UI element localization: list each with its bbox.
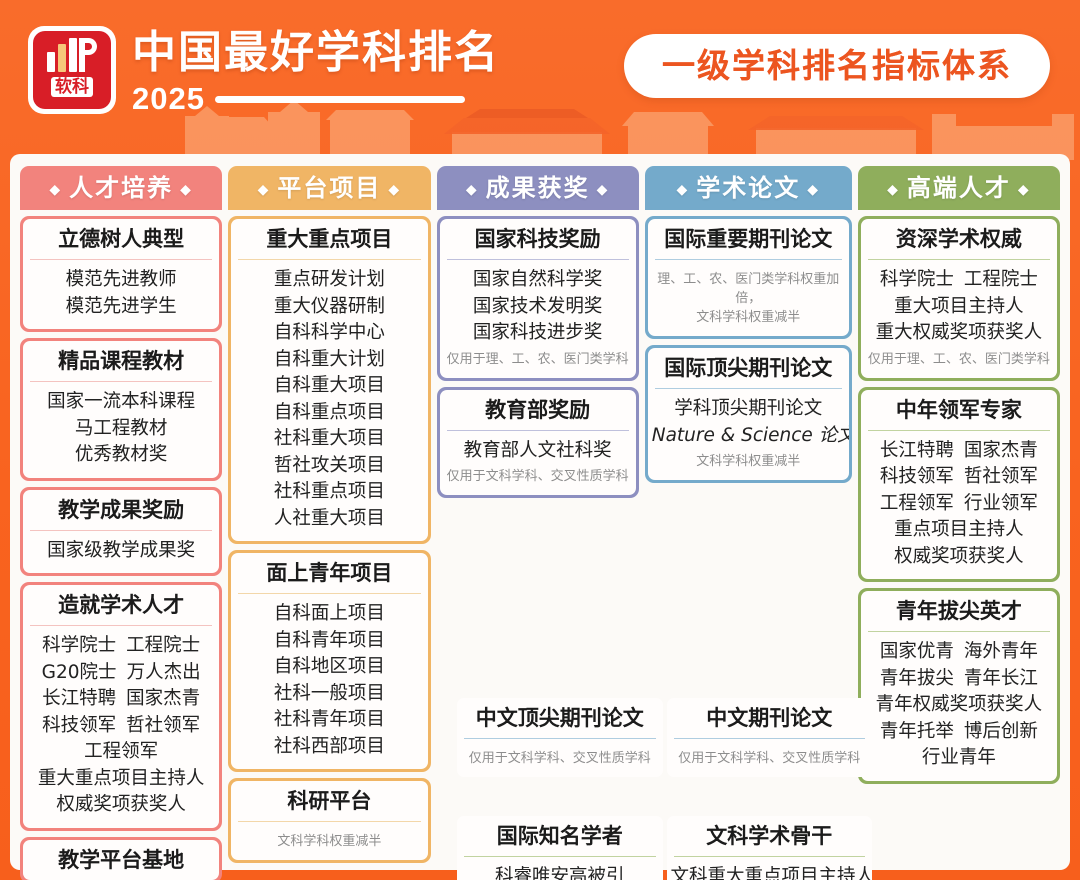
indicator-body: 自科面上项目自科青年项目自科地区项目社科一般项目社科青年项目社科西部项目 [231, 594, 427, 769]
indicator-column-talent: ◆人才培养◆立德树人典型模范先进教师模范先进学生精品课程教材国家一流本科课程马工… [20, 166, 222, 860]
indicator-title: 国际知名学者 [457, 816, 663, 856]
indicator-card[interactable]: 教学平台基地 [23, 840, 219, 880]
indicator-body: 教育部人文社科奖仅用于文科学科、交叉性质学科 [440, 431, 636, 496]
indicator-group[interactable]: 立德树人典型模范先进教师模范先进学生 [20, 216, 222, 332]
indicator-group[interactable]: 教学成果奖励国家级教学成果奖 [20, 487, 222, 577]
indicator-item: 重大权威奖项获奖人 [865, 320, 1053, 347]
indicator-title: 文科学术骨干 [667, 816, 873, 856]
indicator-note: 文科学科权重减半 [652, 452, 845, 471]
indicator-body: 科学院士工程院士G20院士万人杰出长江特聘国家杰青科技领军哲社领军工程领军重大重… [23, 626, 219, 828]
diamond-icon: ◆ [597, 182, 610, 198]
column-header-label: 平台项目 [277, 174, 381, 202]
indicator-note: 仅用于文科学科、交叉性质学科 [671, 749, 869, 768]
indicator-group[interactable]: 精品课程教材国家一流本科课程马工程教材优秀教材奖 [20, 338, 222, 481]
year-label: 2025 [132, 82, 205, 116]
indicator-title: 国际重要期刊论文 [648, 219, 849, 259]
indicator-item: 社科西部项目 [235, 734, 423, 761]
indicator-group[interactable]: 科研平台文科学科权重减半 [228, 778, 430, 863]
indicator-title: 中文期刊论文 [667, 698, 873, 738]
indicator-card[interactable]: 国家科技奖励国家自然科学奖国家技术发明奖国家科技进步奖仅用于理、工、农、医门类学… [440, 219, 636, 378]
logo-inner: 软科 [33, 31, 111, 109]
indicator-item: 青年权威奖项获奖人 [865, 692, 1053, 719]
indicator-item: 长江特聘国家杰青 [865, 438, 1053, 465]
indicator-title: 资深学术权威 [861, 219, 1057, 259]
indicator-item: 国家优青海外青年 [865, 639, 1053, 666]
indicator-item: 权威奖项获奖人 [27, 792, 215, 819]
indicator-card[interactable]: 造就学术人才科学院士工程院士G20院士万人杰出长江特聘国家杰青科技领军哲社领军工… [23, 585, 219, 828]
diamond-icon: ◆ [258, 182, 271, 198]
indicator-title: 国家科技奖励 [440, 219, 636, 259]
column-header-label: 成果获奖 [486, 174, 590, 202]
indicator-group[interactable]: 教育部奖励教育部人文社科奖仅用于文科学科、交叉性质学科 [437, 387, 639, 499]
indicator-group[interactable]: 中年领军专家长江特聘国家杰青科技领军哲社领军工程领军行业领军重点项目主持人权威奖… [858, 387, 1060, 583]
brand-logo: 软科 中国最好学科排名 2025 [28, 26, 500, 116]
indicator-card[interactable]: 资深学术权威科学院士工程院士重大项目主持人重大权威奖项获奖人仅用于理、工、农、医… [861, 219, 1057, 378]
indicator-group[interactable]: 国家科技奖励国家自然科学奖国家技术发明奖国家科技进步奖仅用于理、工、农、医门类学… [437, 216, 639, 381]
indicator-item: 国家自然科学奖 [444, 267, 632, 294]
indicator-item: G20院士万人杰出 [27, 660, 215, 687]
diamond-icon: ◆ [49, 182, 62, 198]
page-title: 中国最好学科排名 [132, 28, 500, 78]
indicator-card-left[interactable]: 国际知名学者科睿唯安高被引爱思唯尔高被引国际重要期刊负责人文科学科权重减半 [457, 816, 663, 880]
indicator-body: 国家优青海外青年青年拔尖青年长江青年权威奖项获奖人青年托举博后创新行业青年 [861, 632, 1057, 781]
indicator-title: 精品课程教材 [23, 341, 219, 381]
column-header-label: 高端人才 [907, 174, 1011, 202]
indicator-body: 模范先进教师模范先进学生 [23, 260, 219, 329]
indicator-note: 理、工、农、医门类学科权重加倍，文科学科权重减半 [652, 270, 845, 327]
indicator-span-scholars[interactable]: 国际知名学者科睿唯安高被引爱思唯尔高被引国际重要期刊负责人文科学科权重减半文科学… [454, 813, 875, 880]
indicator-item: 科技领军哲社领军 [865, 464, 1053, 491]
indicator-item: 自科面上项目 [235, 601, 423, 628]
logo-box: 软科 [28, 26, 116, 114]
poster-root: 软科 中国最好学科排名 2025 一级学科排名指标体系 ◆人才培养◆立德树人典型… [0, 0, 1080, 880]
column-header-elite: ◆高端人才◆ [858, 166, 1060, 210]
indicator-card[interactable]: 国际重要期刊论文理、工、农、医门类学科权重加倍，文科学科权重减半 [648, 219, 849, 336]
indicator-body: 国家级教学成果奖 [23, 531, 219, 574]
indicator-group[interactable]: 青年拔尖英才国家优青海外青年青年拔尖青年长江青年权威奖项获奖人青年托举博后创新行… [858, 588, 1060, 784]
column-header-papers: ◆学术论文◆ [645, 166, 852, 210]
indicator-card[interactable]: 重大重点项目重点研发计划重大仪器研制自科科学中心自科重大计划自科重大项目自科重点… [231, 219, 427, 541]
indicator-item: 自科地区项目 [235, 654, 423, 681]
diamond-icon: ◆ [466, 182, 479, 198]
indicator-item: 科学院士工程院士 [27, 633, 215, 660]
indicator-column-platform: ◆平台项目◆重大重点项目重点研发计划重大仪器研制自科科学中心自科重大计划自科重大… [228, 166, 430, 860]
indicator-title: 教学平台基地 [23, 840, 219, 880]
indicator-column-elite: ◆高端人才◆资深学术权威科学院士工程院士重大项目主持人重大权威奖项获奖人仅用于理… [858, 166, 1060, 860]
indicator-body: 科学院士工程院士重大项目主持人重大权威奖项获奖人仅用于理、工、农、医门类学科 [861, 260, 1057, 378]
indicator-card[interactable]: 精品课程教材国家一流本科课程马工程教材优秀教材奖 [23, 341, 219, 478]
indicator-note: 文科学科权重减半 [235, 832, 423, 851]
indicator-title: 青年拔尖英才 [861, 591, 1057, 631]
indicator-item: 青年托举博后创新 [865, 719, 1053, 746]
indicator-title: 教育部奖励 [440, 390, 636, 430]
indicator-item: 国家一流本科课程 [27, 389, 215, 416]
logo-chinese-name: 软科 [51, 77, 93, 97]
indicator-item: 优秀教材奖 [27, 442, 215, 469]
indicator-body: 国家自然科学奖国家技术发明奖国家科技进步奖仅用于理、工、农、医门类学科 [440, 260, 636, 378]
indicator-item: 行业青年 [865, 745, 1053, 772]
indicator-group[interactable]: 重大重点项目重点研发计划重大仪器研制自科科学中心自科重大计划自科重大项目自科重点… [228, 216, 430, 544]
indicator-note: 仅用于理、工、农、医门类学科 [865, 350, 1053, 369]
indicator-item: 社科青年项目 [235, 707, 423, 734]
indicator-item: 科技领军哲社领军 [27, 713, 215, 740]
indicator-item: 科睿唯安高被引 [461, 864, 659, 880]
year-row: 2025 [132, 82, 500, 116]
indicator-group[interactable]: 面上青年项目自科面上项目自科青年项目自科地区项目社科一般项目社科青年项目社科西部… [228, 550, 430, 772]
indicator-body: 文科学科权重减半 [231, 822, 427, 860]
indicator-group[interactable]: 造就学术人才科学院士工程院士G20院士万人杰出长江特聘国家杰青科技领军哲社领军工… [20, 582, 222, 831]
indicator-item: 哲社攻关项目 [235, 453, 423, 480]
indicator-title: 重大重点项目 [231, 219, 427, 259]
diamond-icon: ◆ [180, 182, 193, 198]
indicator-panel: ◆人才培养◆立德树人典型模范先进教师模范先进学生精品课程教材国家一流本科课程马工… [10, 154, 1070, 870]
indicator-item: 国家技术发明奖 [444, 294, 632, 321]
column-header-talent: ◆人才培养◆ [20, 166, 222, 210]
indicator-note: 仅用于理、工、农、医门类学科 [444, 350, 632, 369]
indicator-title: 造就学术人才 [23, 585, 219, 625]
indicator-body: 科睿唯安高被引爱思唯尔高被引国际重要期刊负责人文科学科权重减半 [457, 857, 663, 880]
indicator-card[interactable]: 立德树人典型模范先进教师模范先进学生 [23, 219, 219, 329]
indicator-item: 权威奖项获奖人 [865, 544, 1053, 571]
indicator-card[interactable]: 科研平台文科学科权重减半 [231, 781, 427, 860]
indicator-item: 社科一般项目 [235, 681, 423, 708]
indicator-card[interactable]: 面上青年项目自科面上项目自科青年项目自科地区项目社科一般项目社科青年项目社科西部… [231, 553, 427, 769]
indicator-item: 教育部人文社科奖 [444, 438, 632, 465]
subtitle-text: 一级学科排名指标体系 [662, 46, 1012, 86]
indicator-card-left[interactable]: 中文顶尖期刊论文仅用于文科学科、交叉性质学科 [457, 698, 663, 777]
indicator-item: 自科重大项目 [235, 373, 423, 400]
indicator-card[interactable]: 教学成果奖励国家级教学成果奖 [23, 490, 219, 574]
indicator-item: 国家级教学成果奖 [27, 538, 215, 565]
indicator-item: 国家科技进步奖 [444, 320, 632, 347]
bar-chart-icon [47, 38, 77, 72]
indicator-item: 工程领军行业领军 [865, 491, 1053, 518]
diamond-icon: ◆ [388, 182, 401, 198]
indicator-title: 国际顶尖期刊论文 [648, 348, 849, 388]
indicator-card[interactable]: 教育部奖励教育部人文社科奖仅用于文科学科、交叉性质学科 [440, 390, 636, 496]
indicator-item: 重点研发计划 [235, 267, 423, 294]
indicator-card[interactable]: 中年领军专家长江特聘国家杰青科技领军哲社领军工程领军行业领军重点项目主持人权威奖… [861, 390, 1057, 580]
indicator-item: 文科重大重点项目主持人 [671, 864, 869, 880]
indicator-item: 青年拔尖青年长江 [865, 666, 1053, 693]
title-block: 中国最好学科排名 2025 [132, 26, 500, 116]
indicator-body: 理、工、农、医门类学科权重加倍，文科学科权重减半 [648, 260, 849, 336]
indicator-note: 仅用于文科学科、交叉性质学科 [444, 467, 632, 486]
indicator-title: 立德树人典型 [23, 219, 219, 259]
subtitle-pill: 一级学科排名指标体系 [624, 34, 1050, 98]
column-header-platform: ◆平台项目◆ [228, 166, 430, 210]
indicator-card[interactable]: 国际顶尖期刊论文学科顶尖期刊论文Nature & Science 论文文科学科权… [648, 348, 849, 480]
indicator-item: 重大仪器研制 [235, 294, 423, 321]
indicator-body: 仅用于文科学科、交叉性质学科 [667, 739, 873, 777]
column-header-label: 人才培养 [69, 174, 173, 202]
poster-header: 软科 中国最好学科排名 2025 一级学科排名指标体系 [0, 0, 1080, 160]
diamond-icon: ◆ [676, 182, 689, 198]
indicator-note: 仅用于文科学科、交叉性质学科 [461, 749, 659, 768]
indicator-card[interactable]: 青年拔尖英才国家优青海外青年青年拔尖青年长江青年权威奖项获奖人青年托举博后创新行… [861, 591, 1057, 781]
indicator-group[interactable]: 资深学术权威科学院士工程院士重大项目主持人重大权威奖项获奖人仅用于理、工、农、医… [858, 216, 1060, 381]
indicator-item: 自科科学中心 [235, 320, 423, 347]
indicator-group[interactable]: 教学平台基地 [20, 837, 222, 880]
indicator-body: 长江特聘国家杰青科技领军哲社领军工程领军行业领军重点项目主持人权威奖项获奖人 [861, 431, 1057, 580]
indicator-title: 科研平台 [231, 781, 427, 821]
indicator-item: 长江特聘国家杰青 [27, 686, 215, 713]
indicator-item: 社科重大项目 [235, 426, 423, 453]
indicator-item: 重点项目主持人 [865, 517, 1053, 544]
indicator-body: 文科重大重点项目主持人文科权威奖项获奖人仅用于文科学科、交叉性质学科 [667, 857, 873, 880]
column-header-awards: ◆成果获奖◆ [437, 166, 639, 210]
indicator-card-right[interactable]: 中文期刊论文仅用于文科学科、交叉性质学科 [667, 698, 873, 777]
column-header-label: 学术论文 [696, 174, 800, 202]
title-rule [215, 96, 465, 103]
indicator-title: 面上青年项目 [231, 553, 427, 593]
indicator-item: 科学院士工程院士 [865, 267, 1053, 294]
indicator-body: 国家一流本科课程马工程教材优秀教材奖 [23, 382, 219, 478]
indicator-group[interactable]: 国际顶尖期刊论文学科顶尖期刊论文Nature & Science 论文文科学科权… [645, 345, 852, 483]
indicator-item: 重大项目主持人 [865, 294, 1053, 321]
indicator-item: 模范先进教师 [27, 267, 215, 294]
indicator-group[interactable]: 国际重要期刊论文理、工、农、医门类学科权重加倍，文科学科权重减半 [645, 216, 852, 339]
indicator-item: Nature & Science 论文 [652, 423, 845, 450]
diamond-icon: ◆ [887, 182, 900, 198]
indicator-span-chinese-journals[interactable]: 中文顶尖期刊论文仅用于文科学科、交叉性质学科中文期刊论文仅用于文科学科、交叉性质… [454, 695, 875, 805]
diamond-icon: ◆ [807, 182, 820, 198]
indicator-item: 模范先进学生 [27, 294, 215, 321]
indicator-item: 自科青年项目 [235, 628, 423, 655]
indicator-title: 中文顶尖期刊论文 [457, 698, 663, 738]
indicator-item: 马工程教材 [27, 416, 215, 443]
indicator-card-right[interactable]: 文科学术骨干文科重大重点项目主持人文科权威奖项获奖人仅用于文科学科、交叉性质学科 [667, 816, 873, 880]
indicator-body: 重点研发计划重大仪器研制自科科学中心自科重大计划自科重大项目自科重点项目社科重大… [231, 260, 427, 541]
indicator-item: 重大重点项目主持人 [27, 766, 215, 793]
indicator-body: 仅用于文科学科、交叉性质学科 [457, 739, 663, 777]
indicator-title: 中年领军专家 [861, 390, 1057, 430]
indicator-item: 工程领军 [27, 739, 215, 766]
diamond-icon: ◆ [1018, 182, 1031, 198]
indicator-item: 自科重点项目 [235, 400, 423, 427]
letter-r-icon [79, 38, 97, 72]
indicator-title: 教学成果奖励 [23, 490, 219, 530]
indicator-item: 社科重点项目 [235, 479, 423, 506]
indicator-item: 自科重大计划 [235, 347, 423, 374]
indicator-body: 学科顶尖期刊论文Nature & Science 论文文科学科权重减半 [648, 389, 849, 480]
indicator-item: 人社重大项目 [235, 506, 423, 533]
indicator-item: 学科顶尖期刊论文 [652, 396, 845, 423]
